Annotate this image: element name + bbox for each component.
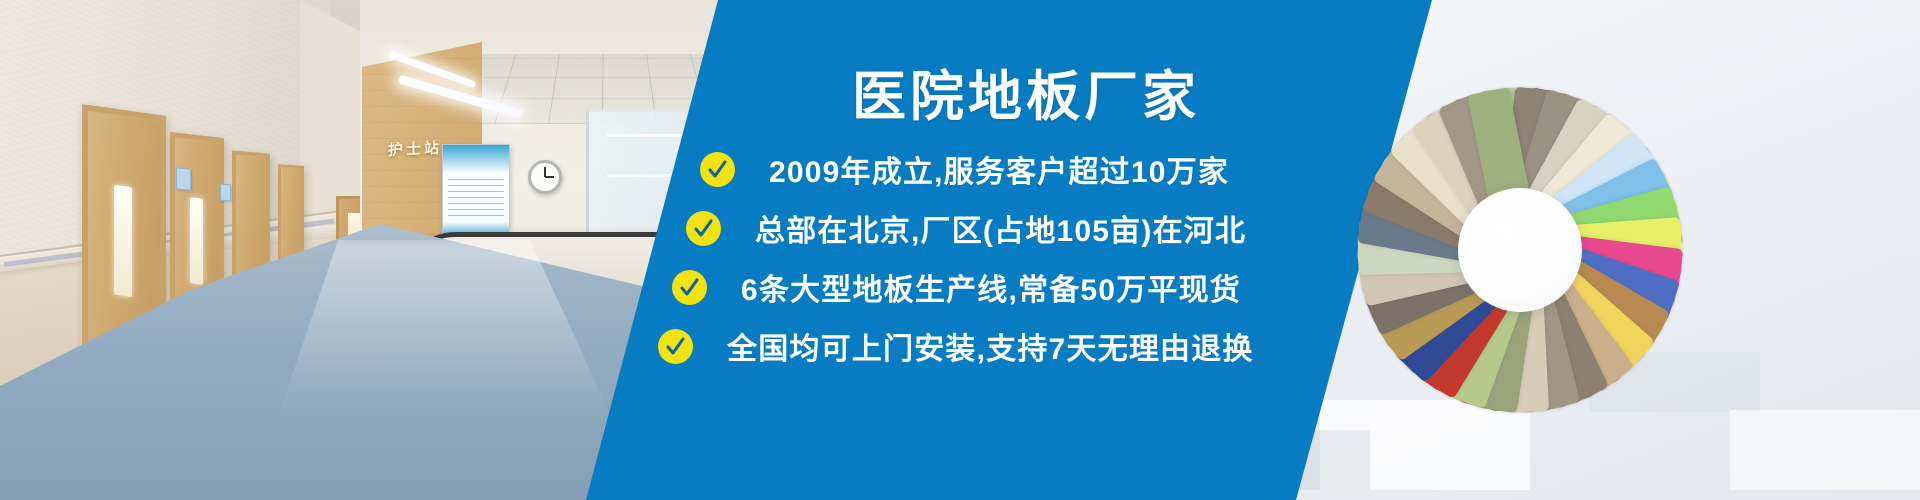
list-item: 6条大型地板生产线,常备50万平现货 [672,265,1241,309]
list-item: 总部在北京,厂区(占地105亩)在河北 [686,206,1246,250]
list-item-label: 总部在北京,厂区(占地105亩)在河北 [755,206,1246,250]
check-circle-icon [686,211,721,246]
promo-banner: 护士站 医院地板厂家 [0,0,1920,500]
check-circle-icon [700,152,735,187]
list-item: 2009年成立,服务客户超过10万家 [700,147,1229,191]
list-item-label: 6条大型地板生产线,常备50万平现货 [741,265,1241,309]
list-item-label: 2009年成立,服务客户超过10万家 [769,147,1229,191]
check-circle-icon [672,270,707,305]
check-circle-icon [658,329,693,364]
fan-center-hub [1458,188,1582,312]
list-item-label: 全国均可上门安装,支持7天无理由退换 [727,324,1254,368]
list-item: 全国均可上门安装,支持7天无理由退换 [658,324,1254,368]
